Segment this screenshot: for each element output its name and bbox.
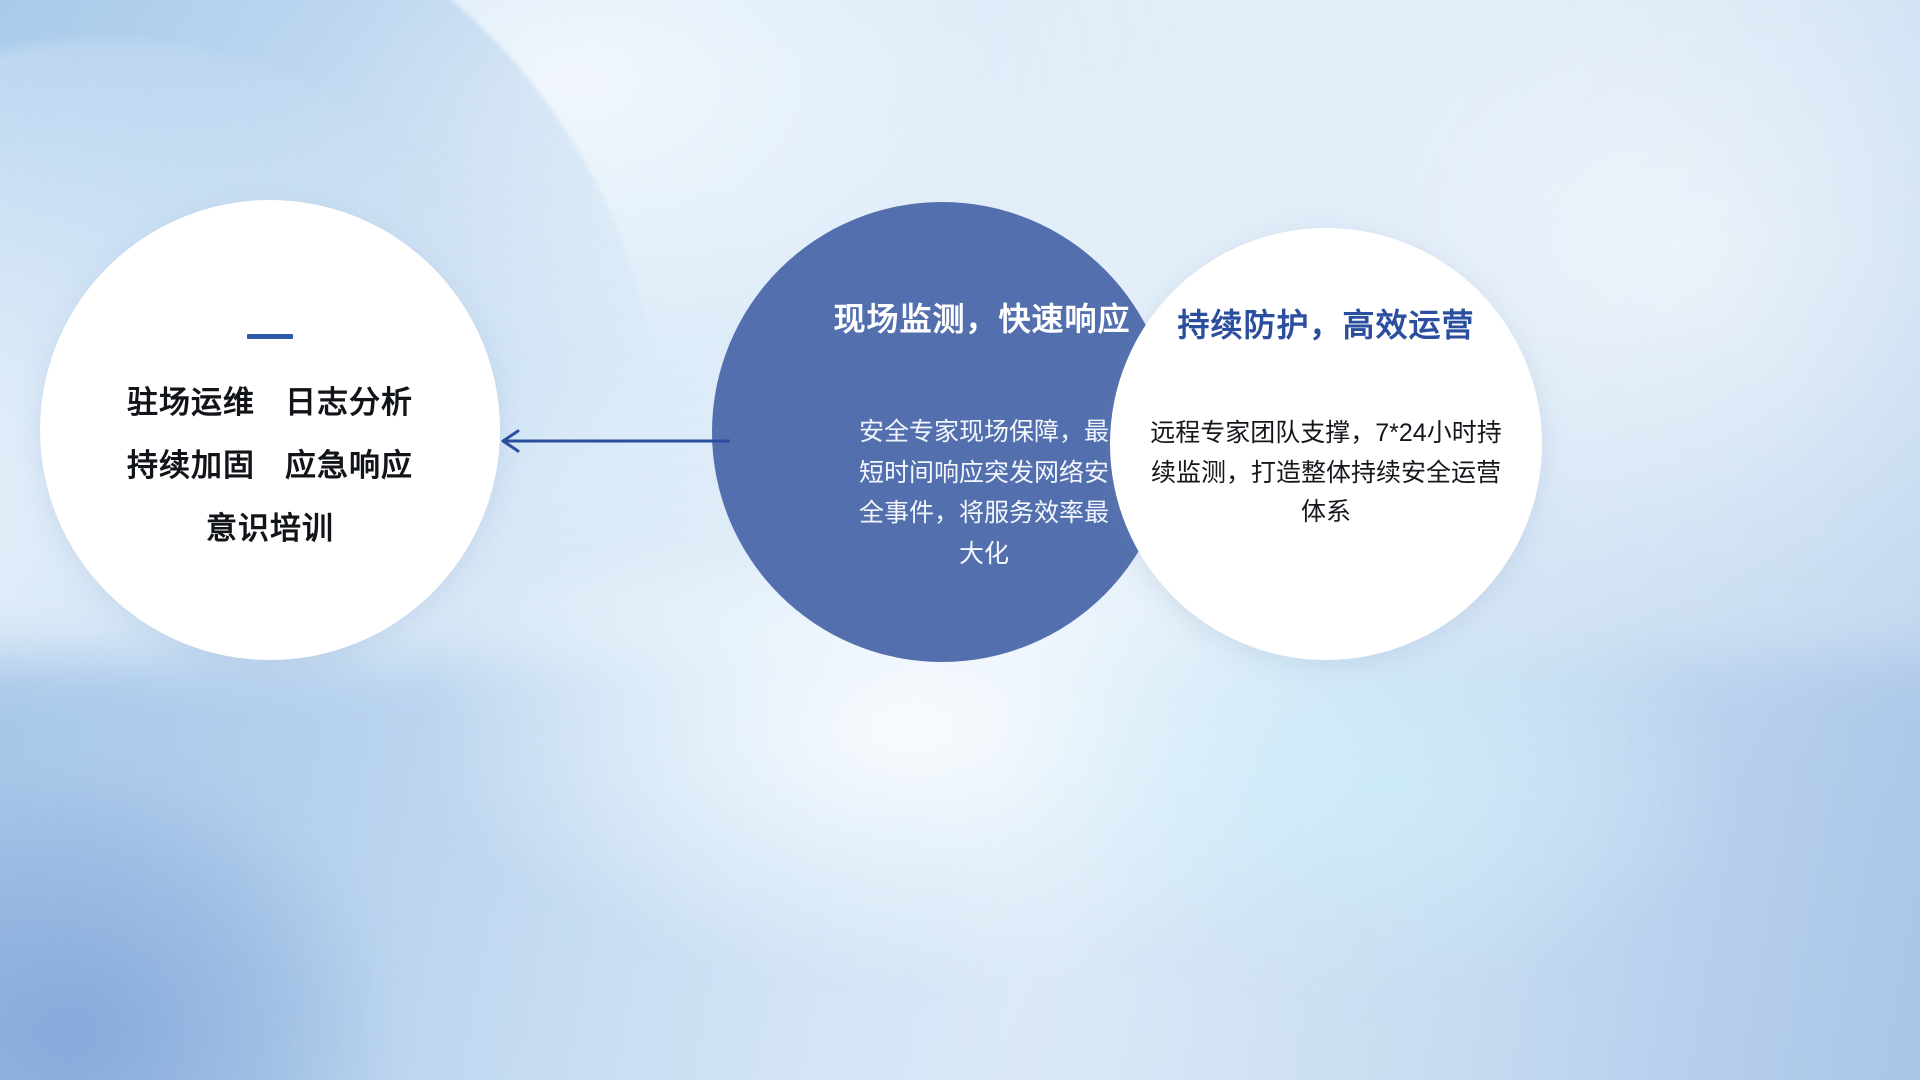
- circle-onsite-capabilities[interactable]: 驻场运维 日志分析 持续加固 应急响应 意识培训: [40, 200, 500, 660]
- background-corner-shade: [0, 780, 380, 1080]
- circle-continuous-protection[interactable]: 持续防护，高效运营 远程专家团队支撑，7*24小时持续监测，打造整体持续安全运营…: [1110, 228, 1542, 660]
- background-mist-cyan: [1020, 620, 1720, 980]
- keyword-continuous-hardening: 持续加固: [127, 450, 255, 481]
- circle-onsite-monitoring[interactable]: 现场监测，快速响应 安全专家现场保障，最短时间响应突发网络安全事件，将服务效率最…: [712, 202, 1172, 662]
- left-circle-content: 驻场运维 日志分析 持续加固 应急响应 意识培训: [40, 200, 500, 660]
- right-circle-body: 远程专家团队支撑，7*24小时持续监测，打造整体持续安全运营体系: [1140, 414, 1512, 533]
- keyword-awareness-training: 意识培训: [206, 513, 334, 544]
- keyword-row-2: 持续加固 应急响应: [127, 450, 413, 481]
- middle-circle-title: 现场监测，快速响应: [833, 294, 1130, 340]
- flow-arrow-left: [492, 424, 732, 458]
- right-circle-title: 持续防护，高效运营: [1177, 300, 1474, 346]
- keyword-row-1: 驻场运维 日志分析: [127, 387, 413, 418]
- keyword-onsite-ops: 驻场运维: [127, 387, 255, 418]
- right-circle-content: 持续防护，高效运营 远程专家团队支撑，7*24小时持续监测，打造整体持续安全运营…: [1110, 228, 1542, 660]
- keyword-row-3: 意识培训: [206, 513, 334, 544]
- middle-circle-content: 现场监测，快速响应 安全专家现场保障，最短时间响应突发网络安全事件，将服务效率最…: [712, 202, 1172, 662]
- accent-dash-divider: [247, 334, 293, 339]
- arrow-icon: [492, 424, 732, 458]
- slide-canvas: 驻场运维 日志分析 持续加固 应急响应 意识培训 现场监测，快速响应 安全专家现…: [0, 0, 1920, 1080]
- keyword-log-analysis: 日志分析: [285, 387, 413, 418]
- middle-circle-body: 安全专家现场保障，最短时间响应突发网络安全事件，将服务效率最大化: [850, 412, 1118, 574]
- keyword-emergency-response: 应急响应: [285, 450, 413, 481]
